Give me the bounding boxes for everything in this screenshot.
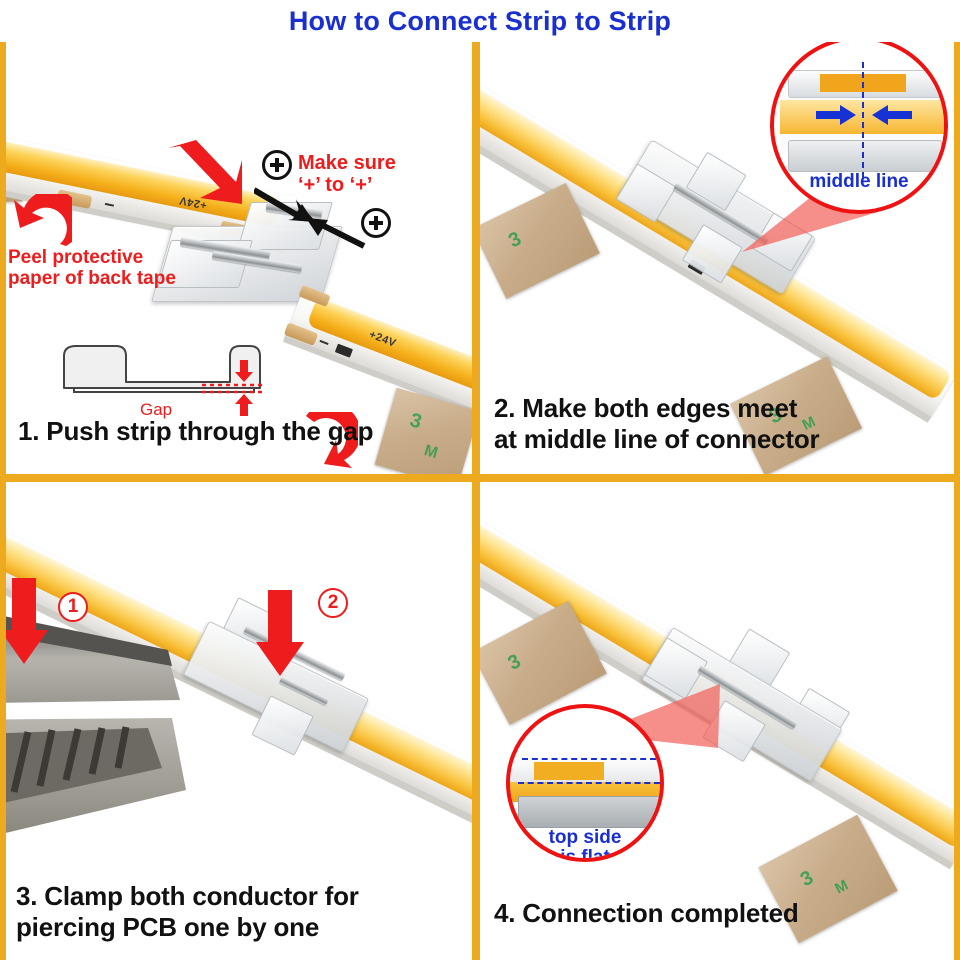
instruction-sheet: How to Connect Strip to Strip 3 +24V Pee…: [0, 0, 960, 960]
inset-connector-lower: [518, 796, 662, 828]
inset-label-top-side-flat: top side is flat: [510, 828, 660, 862]
panel-4-completed: +24V 3 3 M: [480, 482, 954, 960]
divider-edge-right: [954, 42, 960, 960]
divider-horizontal: [0, 474, 960, 482]
panel-3-caption-line1: 3. Clamp both conductor for: [16, 881, 359, 913]
panel-1-push-strip: 3 +24V Peel protective paper of back tap…: [6, 42, 472, 474]
panel-1-caption: 1. Push strip through the gap: [18, 416, 373, 448]
peel-arrow-icon: [10, 194, 72, 250]
polarity-note-line2: ‘+’ to ‘+’: [298, 174, 396, 196]
arrow-left-icon: [870, 104, 912, 126]
peel-protective-note: Peel protective paper of back tape: [8, 247, 176, 290]
plus-badge-bottom: [361, 208, 391, 238]
panel-3-caption-line2: piercing PCB one by one: [16, 912, 359, 944]
polarity-note-line1: Make sure: [298, 152, 396, 174]
polarity-note: Make sure ‘+’ to ‘+’: [298, 152, 396, 197]
page-title: How to Connect Strip to Strip: [0, 6, 960, 37]
peel-note-line2: paper of back tape: [8, 268, 176, 289]
top-flat-dashed-line-lower: [518, 782, 660, 784]
middle-line-dashed: [862, 62, 864, 178]
inset-label-middle-line: middle line: [774, 172, 944, 192]
clamp-arrow-1-icon: [6, 578, 48, 664]
peel-note-line1: Peel protective: [8, 247, 176, 268]
inset-circle-frame: top side is flat: [506, 704, 664, 862]
panel-2-edges-meet: +24V 3 3 M: [480, 42, 954, 474]
middle-line-inset: middle line: [770, 42, 948, 216]
clamp-step-badge-2: 2: [318, 588, 348, 618]
clamp-arrow-2-icon: [256, 590, 304, 676]
clamp-step-badge-1: 1: [58, 592, 88, 622]
panel-2-caption-line2: at middle line of connector: [494, 424, 819, 456]
plus-badge-top: [262, 150, 292, 180]
panel-3-caption: 3. Clamp both conductor for piercing PCB…: [16, 881, 359, 944]
panel-2-caption-line1: 2. Make both edges meet: [494, 393, 819, 425]
panel-4-caption: 4. Connection completed: [494, 898, 799, 930]
top-side-flat-inset: top side is flat: [506, 704, 666, 864]
inset-connector-bottom: [788, 140, 942, 172]
backing-logo: 3: [407, 409, 424, 434]
plus-direction-arrow-bottom-icon: [302, 212, 366, 252]
inset-label-line2: is flat: [510, 848, 660, 862]
inset-pcb-window: [534, 762, 604, 780]
push-arrow-top-icon: [166, 138, 244, 206]
backing-logo-2: M: [422, 442, 440, 463]
divider-edge-left: [0, 42, 6, 960]
backing-logo: 3: [504, 650, 525, 676]
arrow-right-icon: [816, 104, 858, 126]
backing-logo: 3: [505, 228, 525, 254]
backing-logo-2: M: [832, 877, 851, 898]
divider-vertical: [472, 42, 480, 960]
panel-2-caption: 2. Make both edges meet at middle line o…: [494, 393, 819, 456]
inset-circle-frame: middle line: [770, 42, 948, 214]
panel-3-clamp: 1 2 3. Clamp both conductor for piercing…: [6, 482, 472, 960]
inset-label-line1: top side: [510, 828, 660, 848]
backing-logo: 3: [797, 867, 818, 893]
top-flat-dashed-line-upper: [522, 758, 656, 760]
